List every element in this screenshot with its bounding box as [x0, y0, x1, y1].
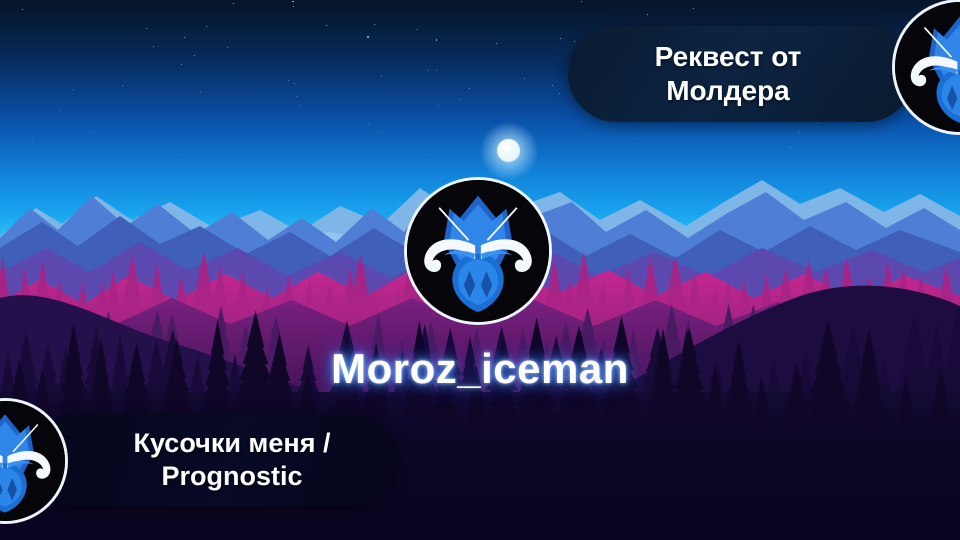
banner-top-right-line-1: Реквест от [655, 40, 802, 74]
wolf-head-logo-icon [0, 401, 65, 521]
star [469, 88, 470, 89]
star [326, 25, 327, 26]
star [581, 1, 582, 2]
star [194, 55, 195, 56]
star [378, 132, 379, 133]
banner-bottom-left-line-1: Кусочки меня / [133, 427, 330, 460]
logo-circle [0, 398, 68, 524]
star [374, 24, 375, 25]
avatar-ring [404, 177, 552, 325]
star [565, 139, 566, 140]
star [817, 122, 818, 123]
star [417, 29, 418, 30]
star [122, 85, 123, 86]
star [459, 99, 460, 100]
overlay-stage: Moroz_iceman Реквест от Молдера [0, 0, 960, 540]
banner-bottom-left[interactable]: Кусочки меня / Prognostic [28, 414, 396, 506]
star [22, 9, 23, 10]
star [438, 105, 439, 106]
star [181, 64, 182, 65]
star [368, 124, 369, 125]
banner-top-right-line-2: Молдера [655, 74, 802, 108]
wolf-head-logo-icon [407, 180, 549, 322]
star [300, 105, 301, 106]
star [294, 83, 295, 84]
star [296, 96, 297, 97]
star [436, 39, 438, 41]
star [606, 125, 607, 126]
star [799, 132, 800, 133]
star [609, 129, 610, 130]
star [292, 1, 294, 3]
star [60, 110, 61, 111]
banner-bottom-left-text: Кусочки меня / Prognostic [133, 427, 330, 493]
star [436, 70, 437, 71]
banner-top-right[interactable]: Реквест от Молдера [568, 26, 914, 122]
star [693, 8, 694, 9]
banner-top-right-logo [892, 0, 960, 135]
star [789, 147, 791, 149]
star [574, 41, 575, 42]
star [93, 132, 94, 133]
star [200, 92, 201, 93]
star [381, 76, 382, 77]
star [524, 78, 525, 79]
username-label: Moroz_iceman [0, 345, 960, 393]
star [206, 26, 207, 27]
star [634, 138, 635, 139]
wolf-head-logo-icon [895, 2, 960, 132]
star [647, 14, 648, 15]
star [560, 38, 561, 39]
star [233, 3, 234, 4]
star [153, 46, 154, 47]
banner-top-right-text: Реквест от Молдера [655, 40, 802, 108]
star [184, 37, 185, 38]
star [367, 36, 369, 38]
star [32, 141, 33, 142]
star [227, 47, 228, 48]
star [293, 6, 294, 7]
banner-bottom-left-logo [0, 398, 68, 524]
banner-bottom-left-line-2: Prognostic [133, 460, 330, 493]
star [146, 28, 147, 29]
avatar [404, 177, 552, 325]
star [552, 85, 553, 86]
star [73, 89, 75, 91]
star [559, 93, 560, 94]
star [496, 43, 497, 44]
star [288, 80, 289, 81]
star [427, 70, 428, 71]
logo-circle [892, 0, 960, 135]
